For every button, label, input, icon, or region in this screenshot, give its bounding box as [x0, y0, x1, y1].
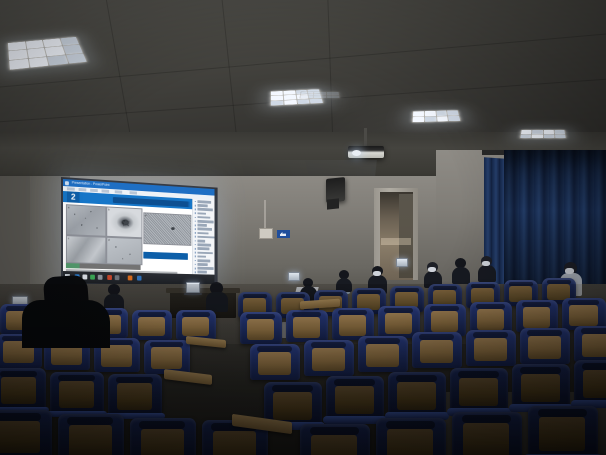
slide-number: 2 — [67, 191, 80, 203]
theatre-seat[interactable] — [376, 418, 446, 455]
attendee — [336, 270, 352, 292]
doorway-light-strip — [381, 238, 411, 245]
micrograph-image: e — [143, 212, 191, 246]
open-laptop[interactable] — [186, 282, 200, 293]
theatre-seat[interactable] — [58, 414, 124, 455]
outline-row[interactable] — [194, 263, 214, 266]
projector-lens-icon — [352, 150, 361, 156]
theatre-seat[interactable] — [358, 336, 408, 372]
theatre-seat[interactable] — [286, 310, 328, 342]
face-mask — [565, 268, 574, 274]
theatre-seat[interactable] — [108, 374, 162, 416]
lecture-hall-photo: Presentation - PowerPoint 2 a b c d — [0, 0, 606, 455]
slide-title-text — [113, 196, 191, 206]
theatre-seat[interactable] — [176, 310, 216, 340]
theatre-seat[interactable] — [0, 368, 46, 410]
theatre-seat[interactable] — [250, 344, 300, 380]
face-mask — [428, 267, 436, 272]
face-mask — [482, 261, 490, 266]
micrograph-image: a — [66, 204, 106, 237]
wall-outlet-plate — [259, 228, 273, 239]
slide-canvas[interactable]: 2 a b c d e — [63, 191, 192, 274]
theatre-seat[interactable] — [326, 376, 384, 420]
theatre-seat[interactable] — [130, 418, 196, 455]
speaker-body — [327, 198, 339, 209]
theatre-seat[interactable] — [528, 406, 598, 455]
outline-row[interactable] — [194, 267, 214, 270]
micrograph-image: c — [66, 235, 106, 264]
front-desk-top — [166, 288, 240, 293]
theatre-seat[interactable] — [450, 368, 508, 412]
projector-mount — [364, 128, 367, 148]
outline-row[interactable] — [194, 259, 214, 263]
conduit — [264, 200, 266, 228]
theatre-seat[interactable] — [466, 330, 516, 366]
attendee — [206, 282, 228, 312]
theatre-seat[interactable] — [520, 328, 570, 364]
outline-row[interactable] — [194, 255, 214, 259]
figure-caption-band — [143, 252, 188, 260]
ceiling-light-panel — [299, 92, 340, 99]
micrograph-image: d — [106, 237, 142, 265]
theatre-seat[interactable] — [512, 364, 570, 408]
ceiling-light-panel — [519, 130, 567, 139]
micrograph-image: b — [106, 206, 142, 238]
person-foreground-silhouette — [18, 276, 110, 348]
attendee — [452, 258, 470, 284]
open-laptop[interactable] — [396, 258, 408, 267]
ceiling-light-panel — [412, 110, 462, 123]
face-mask — [373, 271, 381, 276]
attendee — [478, 256, 496, 282]
theatre-seat[interactable] — [412, 332, 462, 368]
theatre-seat[interactable] — [304, 340, 354, 376]
theatre-seat[interactable] — [300, 424, 370, 455]
theatre-seat[interactable] — [0, 410, 52, 455]
theatre-seat[interactable] — [50, 372, 104, 414]
open-laptop[interactable] — [288, 272, 300, 281]
theatre-seat[interactable] — [574, 360, 606, 404]
app-icon — [65, 181, 69, 185]
theatre-seat[interactable] — [388, 372, 446, 416]
taskbar-icon[interactable] — [115, 275, 120, 280]
taskbar-icon[interactable] — [128, 275, 133, 280]
theatre-seat[interactable] — [452, 412, 522, 455]
theatre-seat[interactable] — [132, 310, 172, 340]
theatre-seat[interactable] — [574, 326, 606, 362]
taskbar-icon[interactable] — [137, 276, 142, 281]
theatre-seat[interactable] — [240, 312, 282, 344]
slide-outline-pane[interactable] — [192, 199, 214, 275]
projection-screen[interactable]: Presentation - PowerPoint 2 a b c d — [63, 179, 215, 286]
